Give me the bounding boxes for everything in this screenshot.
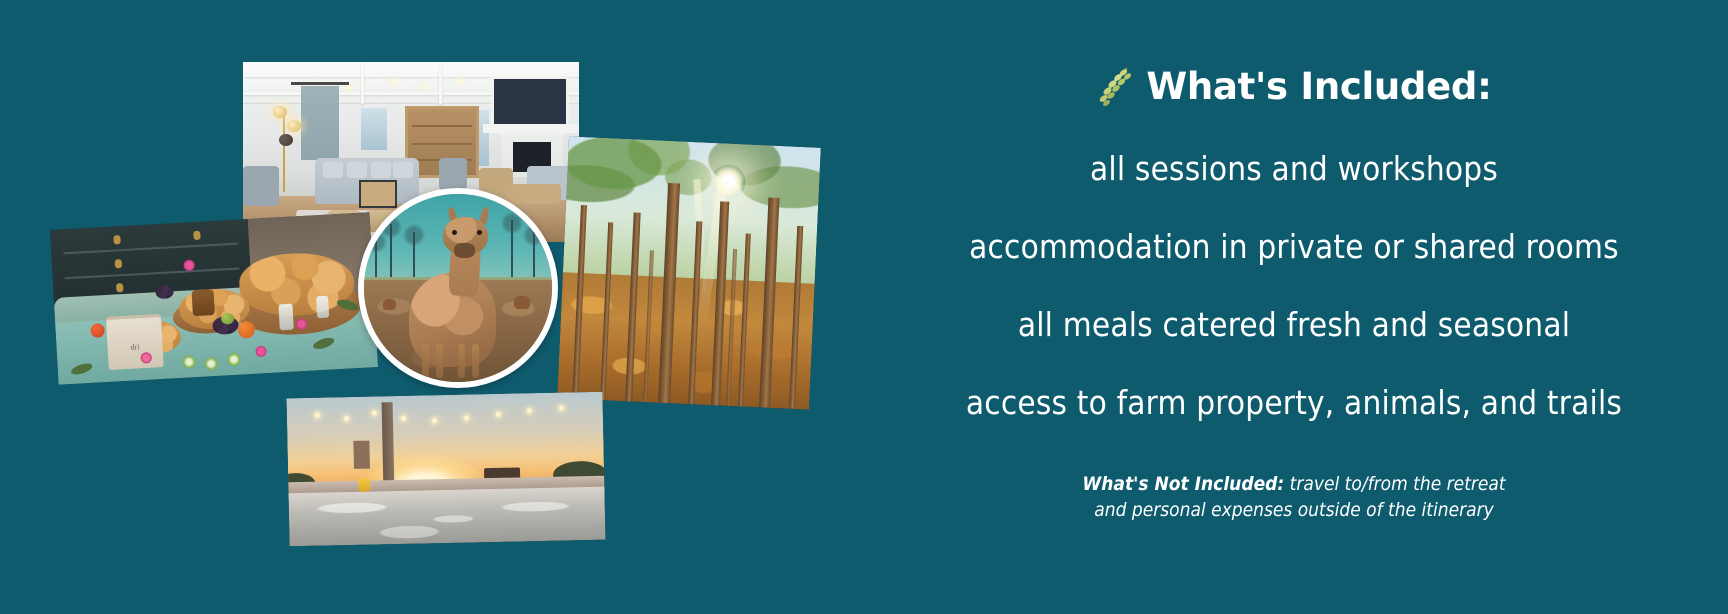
ceiling-beam bbox=[439, 62, 442, 104]
alpaca-legs bbox=[420, 344, 484, 378]
not-included-line-2: and personal expenses outside of the iti… bbox=[1082, 498, 1505, 524]
recessed-light bbox=[423, 86, 428, 89]
bare-tree bbox=[533, 232, 535, 281]
honey-jar bbox=[191, 289, 214, 316]
included-item-3: all meals catered fresh and seasonal bbox=[1018, 308, 1570, 341]
forest-photo bbox=[557, 136, 821, 409]
not-included-line-1-rest: travel to/from the retreat bbox=[1284, 473, 1505, 495]
bare-tree bbox=[511, 220, 513, 280]
page-title: What's Included: bbox=[1146, 68, 1491, 105]
distant-alpaca bbox=[514, 296, 530, 309]
bare-tree bbox=[413, 232, 415, 281]
barn-door bbox=[301, 86, 339, 160]
window bbox=[361, 108, 387, 150]
lamp-shade bbox=[279, 134, 293, 146]
photo-collage: dri bbox=[0, 0, 860, 614]
not-included-note: What's Not Included: travel to/from the … bbox=[1082, 472, 1505, 523]
labeled-jar: dri bbox=[106, 314, 163, 370]
recessed-light bbox=[391, 81, 396, 84]
included-item-4: access to farm property, animals, and tr… bbox=[966, 386, 1622, 419]
lifeguard-chair bbox=[354, 441, 371, 469]
recessed-light bbox=[457, 80, 462, 83]
alpaca-muzzle bbox=[454, 243, 475, 258]
alpaca-eye bbox=[477, 230, 482, 235]
heading-row: What's Included: bbox=[1096, 64, 1491, 108]
retreat-inclusions-slide: dri bbox=[0, 0, 1728, 614]
mantel bbox=[483, 124, 579, 133]
distant-alpaca bbox=[383, 299, 396, 310]
recessed-light bbox=[347, 86, 352, 89]
included-item-2: accommodation in private or shared rooms bbox=[969, 230, 1619, 263]
lamp-globe bbox=[273, 106, 287, 118]
wall-mounted-tv bbox=[491, 76, 569, 128]
jar-label-text: dri bbox=[108, 341, 163, 353]
hot-tub-photo bbox=[286, 392, 605, 547]
dining-chair bbox=[243, 166, 279, 206]
herb-leaf-icon bbox=[1096, 64, 1136, 108]
glass-bottle bbox=[278, 303, 293, 330]
not-included-label: What's Not Included: bbox=[1082, 473, 1284, 495]
alpaca-photo bbox=[358, 188, 558, 388]
lamp-globe bbox=[287, 120, 301, 132]
not-included-line-1: What's Not Included: travel to/from the … bbox=[1082, 472, 1505, 498]
accent-chair bbox=[439, 158, 467, 190]
drink-cup bbox=[358, 478, 370, 491]
bare-tree bbox=[375, 239, 377, 280]
hot-tub-water bbox=[288, 486, 605, 546]
included-item-1: all sessions and workshops bbox=[1090, 152, 1498, 185]
canopy bbox=[563, 136, 821, 284]
grazing-table-photo: dri bbox=[50, 212, 378, 385]
glass-bottle bbox=[316, 295, 329, 318]
inclusions-text-panel: What's Included: all sessions and worksh… bbox=[860, 0, 1728, 614]
barn-door-rail bbox=[291, 82, 349, 85]
floor-lamp-pole bbox=[283, 110, 285, 192]
ceiling-beam bbox=[361, 62, 364, 104]
forest-floor bbox=[557, 273, 814, 410]
bare-tree bbox=[390, 224, 392, 280]
